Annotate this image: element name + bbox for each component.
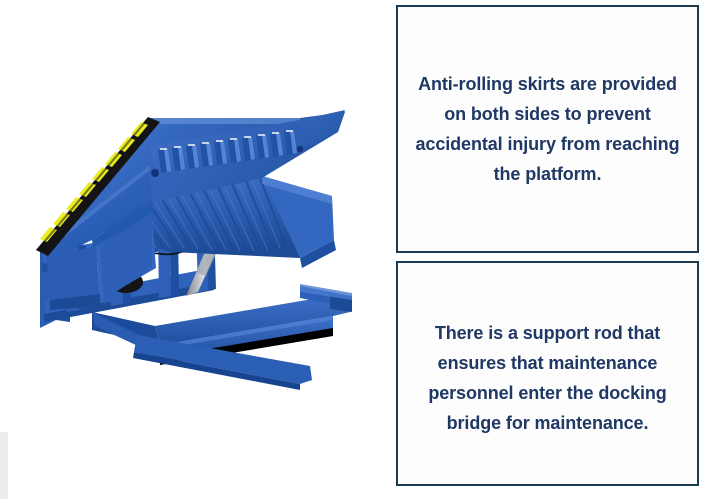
callout-text-support-rod: There is a support rod that ensures that… xyxy=(398,318,697,438)
photo-stage xyxy=(0,0,390,499)
callout-text-anti-rolling-skirts: Anti-rolling skirts are provided on both… xyxy=(398,69,697,189)
callout-box-support-rod: There is a support rod that ensures that… xyxy=(396,261,699,486)
product-photo-panel xyxy=(0,0,390,499)
page-root: Anti-rolling skirts are provided on both… xyxy=(0,0,705,499)
page-edge-strip xyxy=(0,432,8,499)
dock-leveler-illustration xyxy=(0,0,390,499)
callout-box-anti-rolling-skirts: Anti-rolling skirts are provided on both… xyxy=(396,5,699,253)
